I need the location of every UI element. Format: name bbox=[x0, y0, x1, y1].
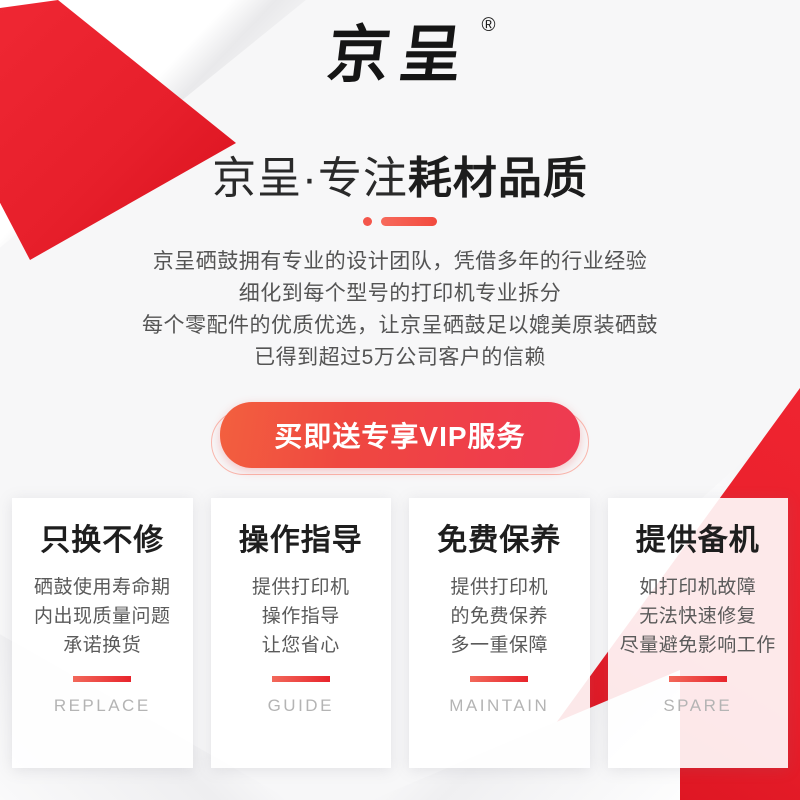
card-divider bbox=[669, 676, 727, 682]
divider-bar-icon bbox=[381, 217, 437, 226]
feature-card-replace[interactable]: 只换不修 硒鼓使用寿命期 内出现质量问题 承诺换货 REPLACE bbox=[12, 498, 193, 768]
description-block: 京呈硒鼓拥有专业的设计团队，凭借多年的行业经验 细化到每个型号的打印机专业拆分 … bbox=[0, 246, 800, 374]
card-english-label: REPLACE bbox=[54, 696, 151, 716]
feature-card-list: 只换不修 硒鼓使用寿命期 内出现质量问题 承诺换货 REPLACE 操作指导 提… bbox=[12, 498, 788, 768]
feature-card-spare[interactable]: 提供备机 如打印机故障 无法快速修复 尽量避免影响工作 SPARE bbox=[608, 498, 789, 768]
brand-logo: 京呈 ® bbox=[0, 22, 800, 87]
card-divider bbox=[73, 676, 131, 682]
description-line: 每个零配件的优质优选，让京呈硒鼓足以媲美原装硒鼓 bbox=[0, 310, 800, 342]
card-line: 尽量避免影响工作 bbox=[620, 631, 776, 660]
card-divider bbox=[272, 676, 330, 682]
divider-dot-icon bbox=[363, 217, 372, 226]
card-description: 提供打印机 操作指导 让您省心 bbox=[252, 573, 350, 660]
card-line: 提供打印机 bbox=[252, 573, 350, 602]
card-line: 无法快速修复 bbox=[620, 602, 776, 631]
description-line: 京呈硒鼓拥有专业的设计团队，凭借多年的行业经验 bbox=[0, 246, 800, 278]
card-line: 让您省心 bbox=[252, 631, 350, 660]
logo-wordmark: 京呈 ® bbox=[324, 22, 476, 87]
card-line: 内出现质量问题 bbox=[34, 602, 171, 631]
card-title: 只换不修 bbox=[40, 524, 164, 557]
card-line: 硒鼓使用寿命期 bbox=[34, 573, 171, 602]
card-divider bbox=[470, 676, 528, 682]
card-line: 如打印机故障 bbox=[620, 573, 776, 602]
card-line: 操作指导 bbox=[252, 602, 350, 631]
vip-badge-area: 买即送专享VIP服务 bbox=[0, 402, 800, 475]
vip-badge[interactable]: 买即送专享VIP服务 bbox=[220, 402, 579, 475]
card-english-label: MAINTAIN bbox=[449, 696, 549, 716]
logo-text: 京呈 bbox=[324, 18, 477, 91]
promo-poster: 京呈 ® 京呈·专注耗材品质 京呈硒鼓拥有专业的设计团队，凭借多年的行业经验 细… bbox=[0, 0, 800, 800]
headline-light-part: 京呈·专注 bbox=[212, 154, 408, 203]
card-description: 提供打印机 的免费保养 多一重保障 bbox=[450, 573, 548, 660]
feature-card-guide[interactable]: 操作指导 提供打印机 操作指导 让您省心 GUIDE bbox=[211, 498, 392, 768]
card-title: 操作指导 bbox=[239, 524, 363, 557]
feature-card-maintain[interactable]: 免费保养 提供打印机 的免费保养 多一重保障 MAINTAIN bbox=[409, 498, 590, 768]
card-line: 提供打印机 bbox=[450, 573, 548, 602]
card-title: 免费保养 bbox=[437, 524, 561, 557]
headline-divider bbox=[0, 217, 800, 226]
description-line: 已得到超过5万公司客户的信赖 bbox=[0, 342, 800, 374]
card-line: 承诺换货 bbox=[34, 631, 171, 660]
description-line: 细化到每个型号的打印机专业拆分 bbox=[0, 278, 800, 310]
card-english-label: SPARE bbox=[663, 696, 732, 716]
card-line: 多一重保障 bbox=[450, 631, 548, 660]
headline-heavy-part: 耗材品质 bbox=[408, 154, 588, 203]
card-line: 的免费保养 bbox=[450, 602, 548, 631]
card-description: 硒鼓使用寿命期 内出现质量问题 承诺换货 bbox=[34, 573, 171, 660]
card-title: 提供备机 bbox=[636, 524, 760, 557]
card-description: 如打印机故障 无法快速修复 尽量避免影响工作 bbox=[620, 573, 776, 660]
page-title: 京呈·专注耗材品质 bbox=[0, 142, 800, 206]
vip-badge-label[interactable]: 买即送专享VIP服务 bbox=[220, 402, 579, 468]
registered-trademark-icon: ® bbox=[482, 16, 506, 36]
card-english-label: GUIDE bbox=[268, 696, 334, 716]
